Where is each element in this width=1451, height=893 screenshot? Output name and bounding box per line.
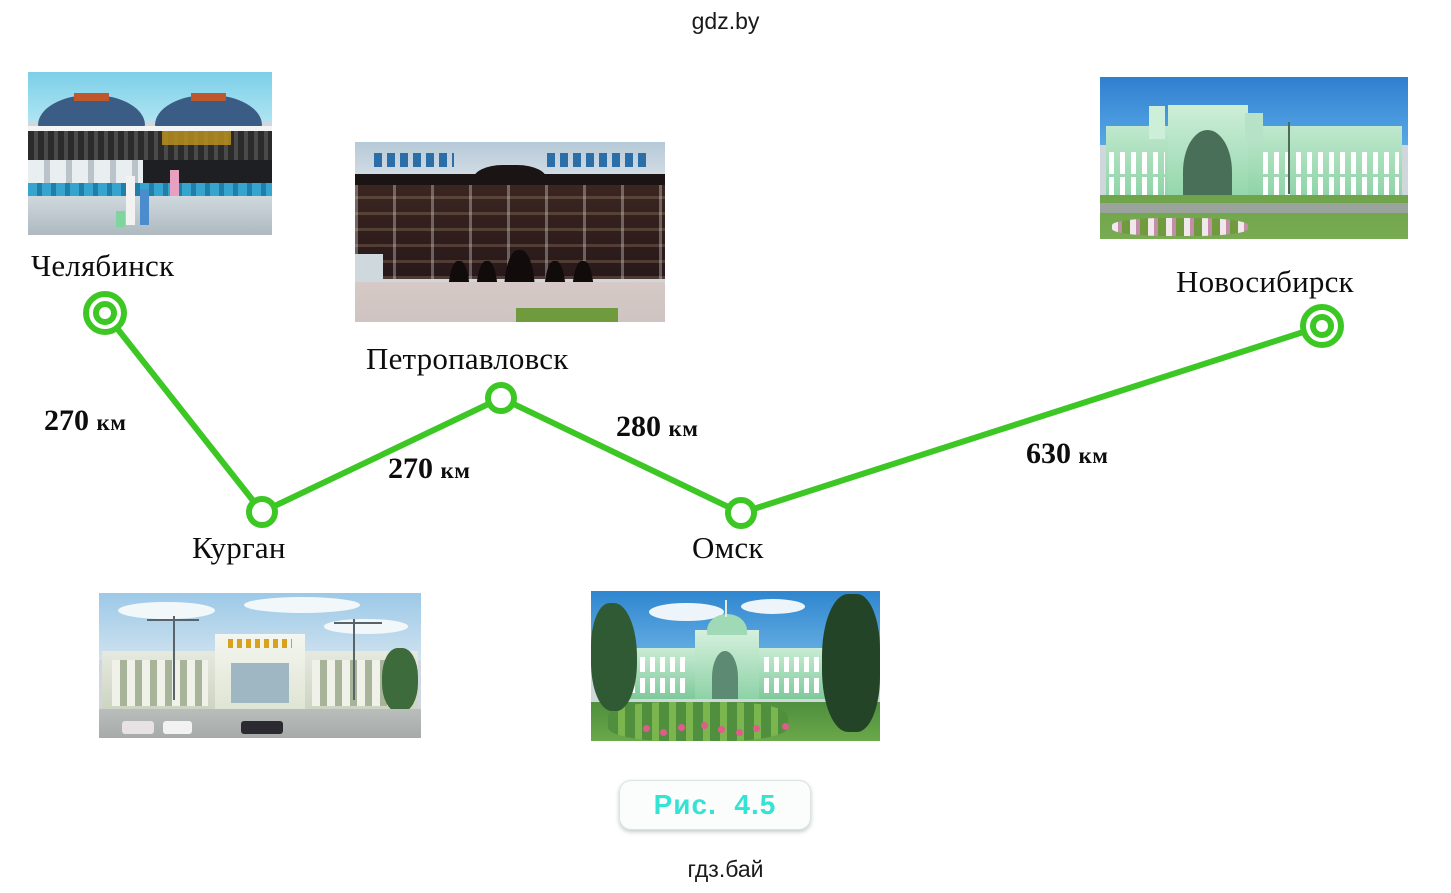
photo-omsk	[591, 591, 880, 741]
photo-car	[241, 721, 283, 734]
distance-value: 630	[1026, 437, 1071, 470]
city-label-omsk: Омск	[692, 530, 764, 566]
photo-flower	[753, 725, 760, 732]
distance-unit: км	[1079, 443, 1109, 468]
route-edge-chelyabinsk-kurgan	[105, 313, 262, 512]
watermark-bottom: гдз.бай	[0, 856, 1451, 883]
photo-tower	[1149, 106, 1164, 138]
photo-flowerbed	[1112, 218, 1248, 236]
photo-street-lamp	[353, 619, 355, 700]
photo-flower	[678, 724, 685, 731]
photo-person	[126, 176, 135, 225]
distance-label-petropavlovsk-omsk: 280 км	[616, 410, 698, 444]
photo-chelyabinsk	[28, 72, 272, 235]
route-node-kurgan	[249, 499, 275, 525]
photo-glass-entrance	[231, 663, 289, 704]
photo-person	[170, 170, 179, 196]
photo-station-sign	[162, 131, 230, 146]
photo-street-lamp	[1288, 122, 1290, 193]
photo-road	[1100, 203, 1408, 213]
photo-petropavlovsk	[355, 142, 665, 322]
photo-cloud	[741, 599, 805, 614]
photo-lawn	[516, 308, 618, 322]
photo-sign-left	[374, 153, 455, 167]
photo-person	[140, 189, 149, 225]
photo-flower	[782, 723, 789, 730]
node-inner-ring	[96, 304, 114, 322]
photo-car	[163, 721, 192, 734]
photo-bag	[116, 211, 125, 227]
route-edge-omsk-novosibirsk	[741, 326, 1322, 513]
figure-caption-box: Рис. 4.5	[619, 780, 811, 830]
node-ring	[249, 499, 275, 525]
node-layer	[86, 294, 1341, 526]
distance-label-kurgan-petropavlovsk: 270 км	[388, 452, 470, 486]
photo-windows	[1109, 177, 1164, 196]
photo-novosibirsk	[1100, 77, 1408, 239]
distance-value: 270	[388, 452, 433, 485]
photo-kurgan	[99, 593, 421, 738]
photo-columns	[112, 660, 209, 706]
photo-roof-vent	[191, 93, 225, 101]
photo-cloud	[118, 602, 215, 619]
figure-stage: gdz.by	[0, 0, 1451, 893]
photo-tree	[591, 603, 637, 711]
photo-station-sign	[228, 639, 292, 648]
distance-unit: км	[669, 416, 699, 441]
distance-unit: км	[97, 410, 127, 435]
photo-flower	[660, 729, 667, 736]
distance-value: 280	[616, 410, 661, 443]
city-label-novosibirsk: Новосибирск	[1176, 264, 1354, 300]
photo-windows	[1109, 152, 1164, 175]
distance-label-omsk-novosibirsk: 630 км	[1026, 437, 1108, 471]
edge-layer	[105, 313, 1322, 513]
photo-flower	[736, 729, 743, 736]
photo-tree	[822, 594, 880, 732]
route-node-chelyabinsk	[86, 294, 124, 332]
photo-sign-right	[547, 153, 646, 167]
photo-car	[122, 721, 154, 734]
photo-ground	[355, 282, 665, 322]
city-label-petropavlovsk: Петропавловск	[366, 341, 569, 377]
node-ring	[488, 385, 514, 411]
distance-unit: км	[441, 458, 471, 483]
photo-ground	[28, 196, 272, 235]
photo-lamp-arm	[334, 622, 382, 624]
photo-bushes	[608, 702, 787, 741]
route-node-petropavlovsk	[488, 385, 514, 411]
photo-windows	[1263, 177, 1399, 196]
photo-roof	[355, 174, 665, 185]
node-ring	[728, 500, 754, 526]
photo-street-lamp	[173, 616, 175, 700]
node-inner-ring	[1313, 317, 1331, 335]
figure-caption-text: Рис. 4.5	[654, 789, 777, 821]
distance-value: 270	[44, 404, 89, 437]
city-label-chelyabinsk: Челябинск	[31, 248, 174, 284]
node-outer-ring	[86, 294, 124, 332]
route-node-novosibirsk	[1303, 307, 1341, 345]
photo-spire	[725, 600, 727, 617]
watermark-top: gdz.by	[0, 8, 1451, 35]
city-label-kurgan: Курган	[192, 530, 286, 566]
photo-windows	[1263, 152, 1399, 175]
distance-label-chelyabinsk-kurgan: 270 км	[44, 404, 126, 438]
photo-tree	[382, 648, 417, 712]
photo-tower	[1245, 113, 1263, 142]
photo-roof-vent	[74, 93, 108, 101]
node-outer-ring	[1303, 307, 1341, 345]
route-node-omsk	[728, 500, 754, 526]
